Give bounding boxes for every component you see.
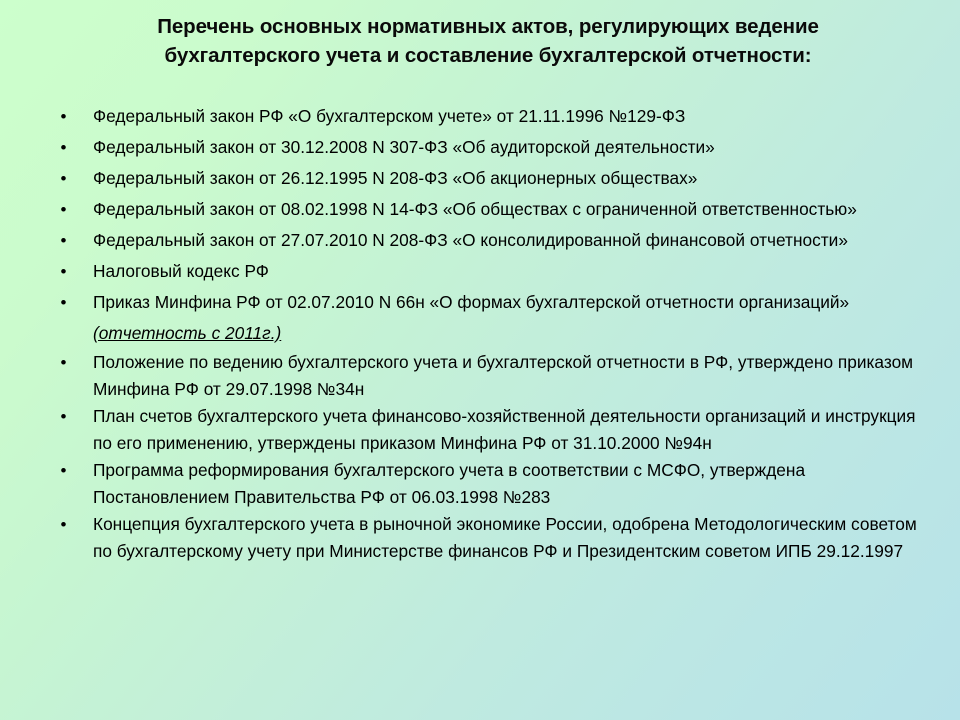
bullet-point-icon: • [59,256,68,287]
list-item-label: Федеральный закон от 27.07.2010 N 208-ФЗ… [93,225,922,256]
list-item: • Федеральный закон от 26.12.1995 N 208-… [50,163,922,194]
list-item: • Программа реформирования бухгалтерског… [50,457,922,511]
bullet-point-icon: • [59,349,68,376]
page-title-line-2: бухгалтерского учета и составление бухга… [58,41,918,70]
bullet-group-secondary: • Положение по ведению бухгалтерского уч… [50,349,922,565]
bullet-point-icon: • [59,457,68,484]
list-item: • План счетов бухгалтерского учета финан… [50,403,922,457]
list-item-label: Федеральный закон РФ «О бухгалтерском уч… [93,101,922,132]
bullet-point-icon: • [59,101,68,132]
list-item-label: Программа реформирования бухгалтерского … [93,457,922,511]
list-item-label: Федеральный закон от 26.12.1995 N 208-ФЗ… [93,163,922,194]
bullet-point-icon: • [59,194,68,225]
list-item: • Федеральный закон от 30.12.2008 N 307-… [50,132,922,163]
list-item-label: Федеральный закон от 08.02.1998 N 14-ФЗ … [93,194,922,225]
bullet-point-icon: • [59,132,68,163]
list-item-label: Налоговый кодекс РФ [93,256,922,287]
list-item-label-plain: Приказ Минфина РФ от 02.07.2010 N 66н «О… [93,292,849,312]
list-item: • Приказ Минфина РФ от 02.07.2010 N 66н … [50,287,922,349]
bullet-group-primary: • Федеральный закон РФ «О бухгалтерском … [50,101,922,349]
list-item-label: Федеральный закон от 30.12.2008 N 307-ФЗ… [93,132,922,163]
presentation-slide: Перечень основных нормативных актов, рег… [0,0,960,720]
bullet-point-icon: • [59,511,68,538]
bullet-point-icon: • [59,287,68,318]
list-item: • Положение по ведению бухгалтерского уч… [50,349,922,403]
list-item: • Федеральный закон от 08.02.1998 N 14-Ф… [50,194,922,225]
page-title-line-1: Перечень основных нормативных актов, рег… [58,12,918,41]
list-item: • Налоговый кодекс РФ [50,256,922,287]
page-title: Перечень основных нормативных актов, рег… [58,12,918,70]
list-item: • Федеральный закон от 27.07.2010 N 208-… [50,225,922,256]
list-item-label-emphasis: (отчетность с 2011г.) [93,323,281,343]
bullet-list: • Федеральный закон РФ «О бухгалтерском … [50,101,922,565]
list-item: • Концепция бухгалтерского учета в рыноч… [50,511,922,565]
list-item-label: Положение по ведению бухгалтерского учет… [93,349,922,403]
list-item-label: План счетов бухгалтерского учета финансо… [93,403,922,457]
list-item: • Федеральный закон РФ «О бухгалтерском … [50,101,922,132]
bullet-point-icon: • [59,163,68,194]
list-item-label: Концепция бухгалтерского учета в рыночно… [93,511,922,565]
bullet-point-icon: • [59,403,68,430]
list-item-label: Приказ Минфина РФ от 02.07.2010 N 66н «О… [93,287,922,349]
bullet-point-icon: • [59,225,68,256]
